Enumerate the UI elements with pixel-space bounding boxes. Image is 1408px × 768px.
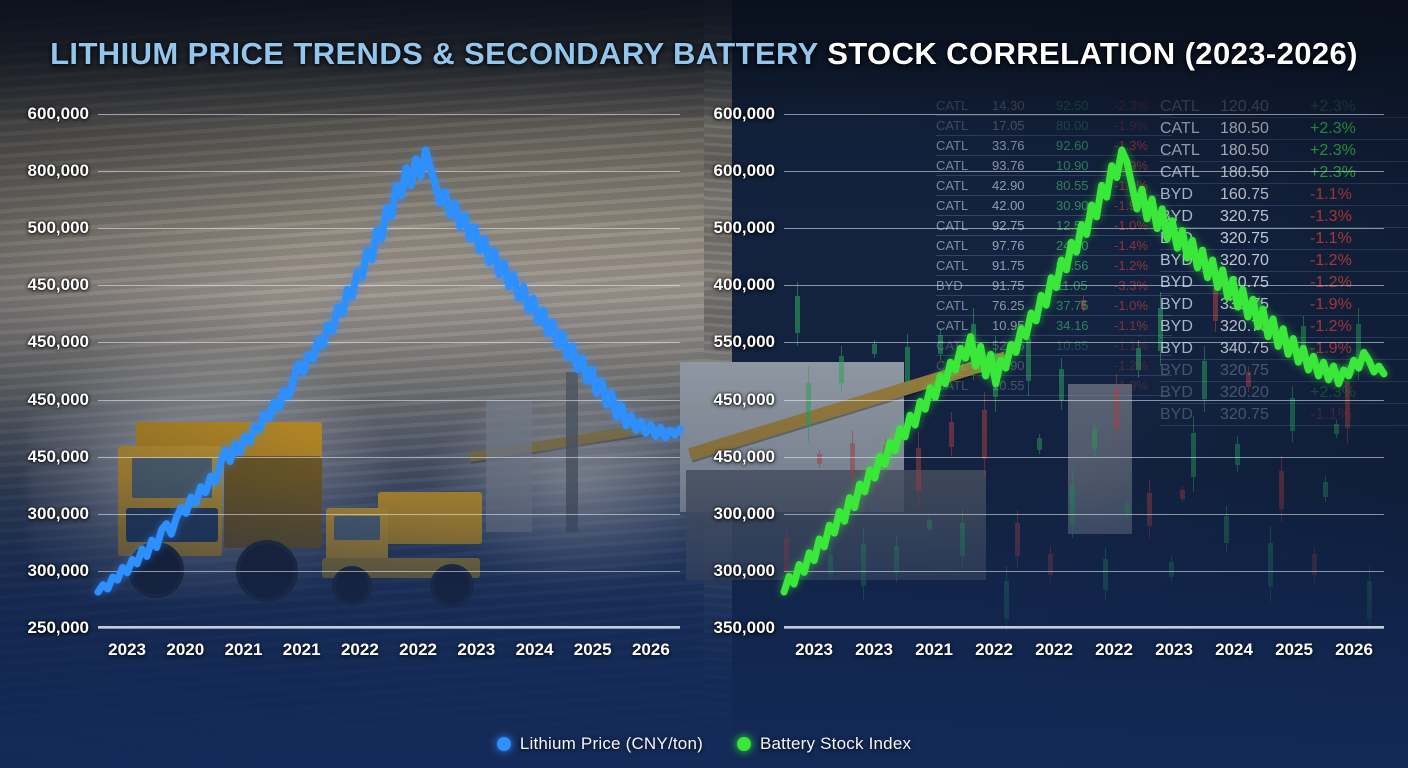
y-tick-label: 600,000	[714, 104, 775, 124]
x-tick-label: 2022	[975, 640, 1013, 660]
legend-item-battery-stock[interactable]: Battery Stock Index	[737, 734, 911, 754]
lithium-x-axis	[98, 626, 680, 628]
y-tick-label: 450,000	[28, 390, 89, 410]
y-tick-label: 450,000	[28, 275, 89, 295]
x-tick-label: 2023	[855, 640, 893, 660]
x-tick-label: 2022	[1095, 640, 1133, 660]
gridline	[98, 628, 680, 629]
y-tick-label: 350,000	[714, 618, 775, 638]
lithium-x-tick-labels: 2023202020212021202220222023202420252026	[98, 632, 680, 662]
x-tick-label: 2026	[1335, 640, 1373, 660]
page-title-highlight: LITHIUM PRICE TRENDS & SECONDARY BATTERY	[50, 36, 818, 71]
lithium-price-chart: 600,000800,000500,000450,000450,000450,0…	[14, 104, 690, 684]
battery-stock-line	[784, 114, 1384, 628]
y-tick-label: 500,000	[714, 218, 775, 238]
y-tick-label: 600,000	[28, 104, 89, 124]
battery-stock-index-chart: 600,000600,000500,000400,000550,000450,0…	[700, 104, 1394, 684]
lithium-price-line	[98, 114, 680, 628]
battery-plot-area: 600,000600,000500,000400,000550,000450,0…	[784, 114, 1384, 628]
x-tick-label: 2024	[516, 640, 554, 660]
legend-item-lithium-price[interactable]: Lithium Price (CNY/ton)	[497, 734, 703, 754]
x-tick-label: 2023	[108, 640, 146, 660]
y-tick-label: 450,000	[714, 447, 775, 467]
x-tick-label: 2024	[1215, 640, 1253, 660]
x-tick-label: 2025	[1275, 640, 1313, 660]
x-tick-label: 2023	[795, 640, 833, 660]
y-tick-label: 300,000	[714, 504, 775, 524]
x-tick-label: 2026	[632, 640, 670, 660]
y-tick-label: 450,000	[714, 390, 775, 410]
y-tick-label: 550,000	[714, 332, 775, 352]
x-tick-label: 2022	[341, 640, 379, 660]
circle-marker-icon	[737, 737, 751, 751]
y-tick-label: 300,000	[714, 561, 775, 581]
infographic-canvas: CATL14.3092.50-2.3%CATL17.0580.00-1.9%CA…	[0, 0, 1408, 768]
x-tick-label: 2025	[574, 640, 612, 660]
y-tick-label: 450,000	[28, 332, 89, 352]
battery-x-axis	[784, 626, 1384, 628]
y-tick-label: 400,000	[714, 275, 775, 295]
x-tick-label: 2021	[915, 640, 953, 660]
legend-label: Lithium Price (CNY/ton)	[520, 734, 703, 754]
x-tick-label: 2023	[1155, 640, 1193, 660]
y-tick-label: 300,000	[28, 561, 89, 581]
y-tick-label: 450,000	[28, 447, 89, 467]
page-title: LITHIUM PRICE TRENDS & SECONDARY BATTERY…	[0, 36, 1408, 72]
y-tick-label: 800,000	[28, 161, 89, 181]
y-tick-label: 500,000	[28, 218, 89, 238]
gridline	[784, 628, 1384, 629]
battery-x-tick-labels: 2023202320212022202220222023202420252026	[784, 632, 1384, 662]
y-tick-label: 600,000	[714, 161, 775, 181]
x-tick-label: 2023	[457, 640, 495, 660]
x-tick-label: 2022	[1035, 640, 1073, 660]
circle-marker-icon	[497, 737, 511, 751]
y-tick-label: 250,000	[28, 618, 89, 638]
page-title-rest: STOCK CORRELATION (2023-2026)	[818, 36, 1358, 71]
x-tick-label: 2020	[166, 640, 204, 660]
lithium-plot-area: 600,000800,000500,000450,000450,000450,0…	[98, 114, 680, 628]
chart-legend: Lithium Price (CNY/ton) Battery Stock In…	[0, 734, 1408, 754]
legend-label: Battery Stock Index	[760, 734, 911, 754]
x-tick-label: 2022	[399, 640, 437, 660]
x-tick-label: 2021	[225, 640, 263, 660]
x-tick-label: 2021	[283, 640, 321, 660]
y-tick-label: 300,000	[28, 504, 89, 524]
